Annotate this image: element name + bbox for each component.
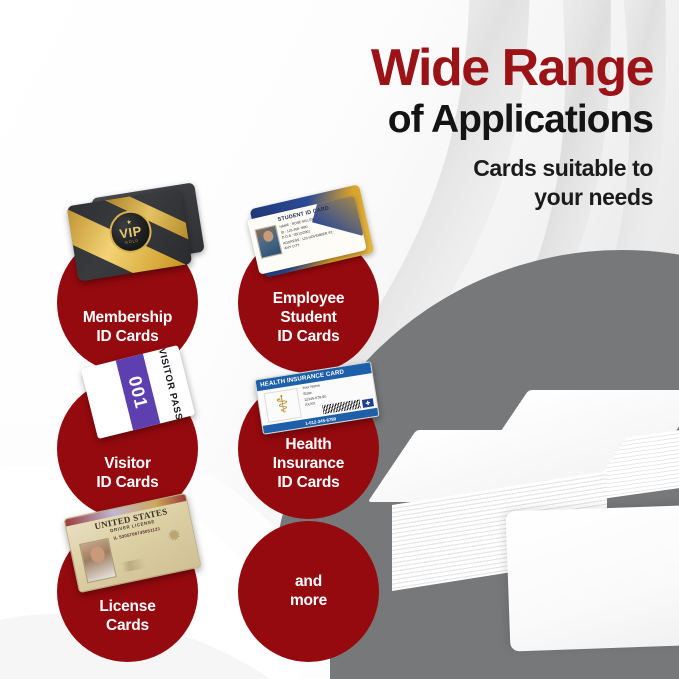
badge-label-health-insurance: Health Insurance ID Cards — [273, 436, 344, 519]
badge-label-employee-student: Employee Student ID Cards — [273, 290, 345, 373]
single-blank-card — [506, 504, 679, 651]
visitor-pass-label: VISITOR PASS — [155, 347, 184, 421]
caduceus-icon: ⚕ — [264, 388, 302, 423]
headline-block: Wide Range of Applications Cards suitabl… — [253, 42, 653, 211]
license-hologram-star-icon: ✹ — [164, 525, 185, 546]
headline-subtitle-1: Cards suitable to — [253, 154, 653, 183]
vip-sub-text: GOLD — [125, 238, 140, 244]
health-card-emblem-glyph: ✚ — [365, 399, 371, 407]
poster-canvas: Wide Range of Applications Cards suitabl… — [0, 0, 679, 679]
badge-label-and-more: and more — [290, 573, 327, 611]
badge-label-license: License Cards — [99, 598, 155, 662]
headline-line-1: Wide Range — [253, 42, 653, 95]
student-photo — [254, 225, 282, 259]
badge-and-more[interactable]: and more — [238, 521, 379, 662]
visitor-pass-number: 001 — [124, 373, 152, 410]
headline-line-2: of Applications — [253, 99, 653, 142]
license-photo — [79, 538, 117, 583]
health-card-emblem: ✚ — [362, 398, 374, 408]
